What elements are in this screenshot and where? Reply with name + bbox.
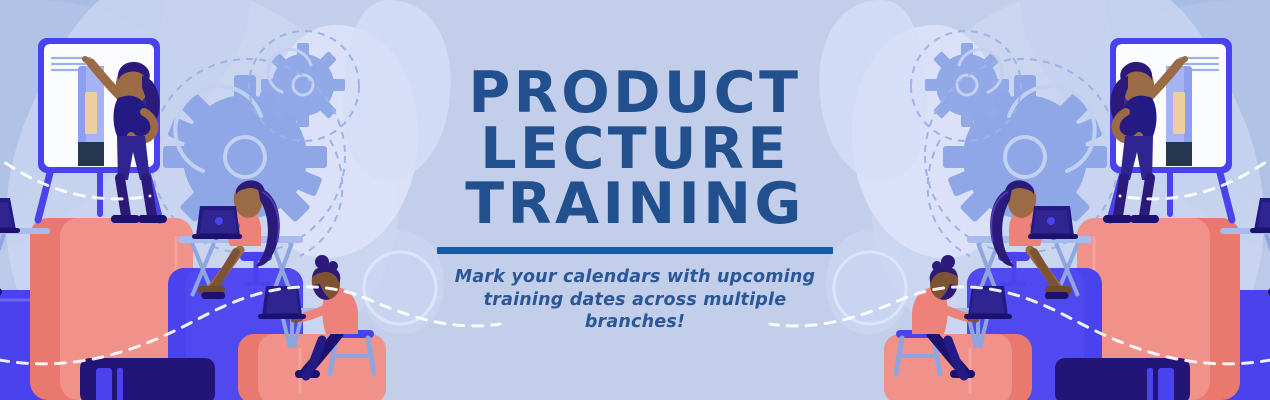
title-line-1: PRODUCT xyxy=(465,66,805,121)
product-tube-icon xyxy=(1166,66,1192,166)
title-line-2: LECTURE xyxy=(465,122,805,177)
promo-banner: PRODUCT LECTURE TRAINING Mark your calen… xyxy=(0,0,1270,400)
title-line-3: TRAINING xyxy=(465,177,805,232)
page-title: PRODUCT LECTURE TRAINING xyxy=(465,66,805,232)
